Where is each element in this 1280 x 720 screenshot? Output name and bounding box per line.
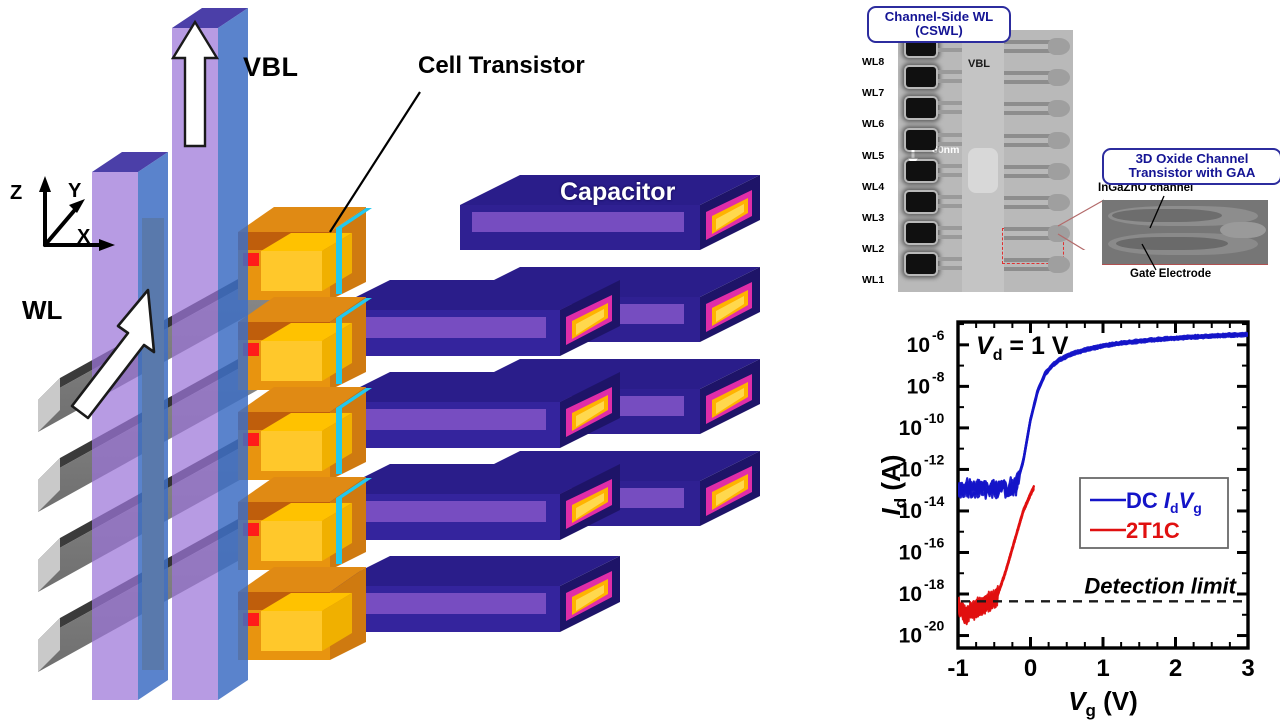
tem-wl-finger [1004, 196, 1052, 200]
y-tick-label: 10-20 [899, 618, 945, 648]
tem-wl-finger [938, 79, 962, 83]
tem-wl-block [906, 130, 936, 150]
tem-wl-finger [1004, 258, 1052, 262]
tem-wl-tip [1048, 38, 1070, 55]
tem-vbl-bright-region [968, 148, 998, 193]
callout-gaa: 3D Oxide Channel Transistor with GAA [1102, 148, 1280, 185]
callout-cswl-line1: Channel-Side WL [874, 10, 1004, 24]
svg-text:-18: -18 [924, 576, 944, 592]
inset-label-gate-electrode: Gate Electrode [1130, 268, 1211, 280]
cell-transistor [238, 207, 372, 300]
tem-cross-section-image: VBL 60nm [898, 30, 1073, 292]
axis-label-z: Z [10, 182, 22, 205]
bias-annotation: Vd = 1 V [976, 332, 1069, 364]
tem-wl-tip [1048, 100, 1070, 117]
vbl-label: VBL [243, 52, 299, 83]
tem-wl-finger [938, 101, 962, 105]
capacitor-label: Capacitor [560, 178, 675, 207]
callout-gaa-line2: Transistor with GAA [1109, 166, 1275, 180]
inset-junction [1220, 222, 1266, 238]
tem-wl-label: WL6 [862, 118, 896, 130]
tem-wl-finger [1004, 236, 1052, 240]
callout-cswl: Channel-Side WL (CSWL) [867, 6, 1011, 43]
x-tick-label: -1 [947, 655, 968, 682]
y-tick-label: 10-10 [899, 410, 945, 440]
tem-wl-finger [1004, 174, 1052, 178]
tem-wl-finger [938, 173, 962, 177]
detection-limit-label: Detection limit [1084, 573, 1237, 598]
tem-wl-block [906, 67, 936, 87]
tem-wl-label: WL2 [862, 243, 896, 255]
tem-wl-finger [1004, 102, 1052, 106]
y-tick-label: 10-16 [899, 534, 945, 564]
y-axis-title: Id (A) [880, 455, 910, 516]
tem-wl-block [906, 192, 936, 212]
tem-wl-tip [1048, 194, 1070, 211]
tem-wl-finger [938, 266, 962, 270]
tem-wl-finger [938, 226, 962, 230]
axis-label-y: Y [68, 180, 81, 203]
cell-transistor-stack [238, 207, 372, 660]
svg-text:-20: -20 [924, 618, 944, 634]
tem-wl-finger [938, 110, 962, 114]
inset-gate-core [1116, 237, 1228, 250]
tem-wl-tip [1048, 163, 1070, 180]
tem-wl-finger [938, 48, 962, 52]
tem-wl-finger [1004, 71, 1052, 75]
tem-wl-tip [1048, 69, 1070, 86]
tem-wl-finger [1004, 40, 1052, 44]
legend-label-dc-idvg: DC IdVg [1126, 488, 1202, 516]
x-tick-label: 2 [1169, 655, 1182, 682]
tem-wl-label-column: WL8WL7WL6WL5WL4WL3WL2WL1 [862, 52, 896, 292]
tem-wl-finger [938, 195, 962, 199]
tem-wl-block [906, 98, 936, 118]
x-tick-label: 0 [1024, 655, 1037, 682]
tem-transistor-inset-image [1102, 200, 1268, 265]
vertical-bitline-left [92, 152, 168, 700]
legend-label-2t1c: 2T1C [1126, 518, 1180, 543]
3d-dram-schematic: VBL Cell Transistor Capacitor WL Z Y X [0, 0, 860, 720]
tem-wl-finger [1004, 205, 1052, 209]
tem-wl-label: WL3 [862, 212, 896, 224]
capacitor-stack [330, 175, 760, 632]
tem-wl-block [906, 254, 936, 274]
tem-wl-finger [1004, 111, 1052, 115]
tem-wl-block [906, 223, 936, 243]
svg-text:10: 10 [899, 583, 922, 606]
tem-vbl-label: VBL [968, 58, 990, 70]
tem-wl-finger [938, 142, 962, 146]
tem-wl-finger [1004, 143, 1052, 147]
svg-text:10: 10 [907, 334, 930, 357]
y-tick-label: 10-8 [907, 368, 945, 398]
id-vg-transfer-plot: 10-610-810-1010-1210-1410-1610-1810-20-1… [880, 300, 1280, 720]
svg-text:-10: -10 [924, 410, 944, 426]
tem-wl-finger [938, 257, 962, 261]
tem-wl-block [906, 161, 936, 181]
y-tick-label: 10-6 [907, 327, 945, 357]
axis-label-x: X [77, 226, 90, 249]
callout-gaa-line1: 3D Oxide Channel [1109, 152, 1275, 166]
vertical-bitline-main [172, 8, 248, 700]
y-tick-label: 10-18 [899, 576, 945, 606]
svg-text:-12: -12 [924, 451, 944, 467]
svg-text:10: 10 [899, 625, 922, 648]
tem-wl-finger [938, 204, 962, 208]
schematic-canvas [0, 0, 860, 720]
x-axis-title: Vg (V) [1068, 686, 1138, 720]
svg-text:-16: -16 [924, 534, 944, 550]
tem-image-panel: Channel-Side WL (CSWL) 3D Oxide Channel … [862, 0, 1280, 300]
tem-wl-label: WL1 [862, 274, 896, 286]
wordline-label: WL [22, 295, 62, 326]
x-tick-label: 1 [1096, 655, 1109, 682]
x-tick-label: 3 [1241, 655, 1254, 682]
tem-wl-finger [938, 235, 962, 239]
cell-transistor-label: Cell Transistor [418, 52, 585, 80]
tem-wl-finger [1004, 49, 1052, 53]
tem-wl-tip [1048, 132, 1070, 149]
tem-wl-tip [1048, 225, 1070, 242]
svg-text:-14: -14 [924, 493, 944, 509]
tem-wl-finger [1004, 80, 1052, 84]
cell-transistor-leader [330, 92, 420, 232]
tem-wl-finger [938, 70, 962, 74]
tem-wl-finger [938, 133, 962, 137]
tem-wl-label: WL8 [862, 56, 896, 68]
svg-text:10: 10 [899, 541, 922, 564]
callout-cswl-line2: (CSWL) [874, 24, 1004, 38]
tem-wl-finger [1004, 165, 1052, 169]
tem-wl-label: WL7 [862, 87, 896, 99]
svg-text:-6: -6 [932, 327, 945, 343]
tem-wl-finger [1004, 267, 1052, 271]
tem-wl-label: WL4 [862, 181, 896, 193]
tem-wl-finger [1004, 227, 1052, 231]
svg-text:10: 10 [899, 417, 922, 440]
tem-wl-tip [1048, 256, 1070, 273]
inset-channel-core [1112, 209, 1222, 222]
tem-wl-finger [938, 164, 962, 168]
plot-canvas: 10-610-810-1010-1210-1410-1610-1810-20-1… [880, 300, 1280, 720]
svg-text:10: 10 [907, 375, 930, 398]
tem-wl-label: WL5 [862, 150, 896, 162]
svg-text:-8: -8 [932, 368, 945, 384]
tem-wl-finger [1004, 134, 1052, 138]
